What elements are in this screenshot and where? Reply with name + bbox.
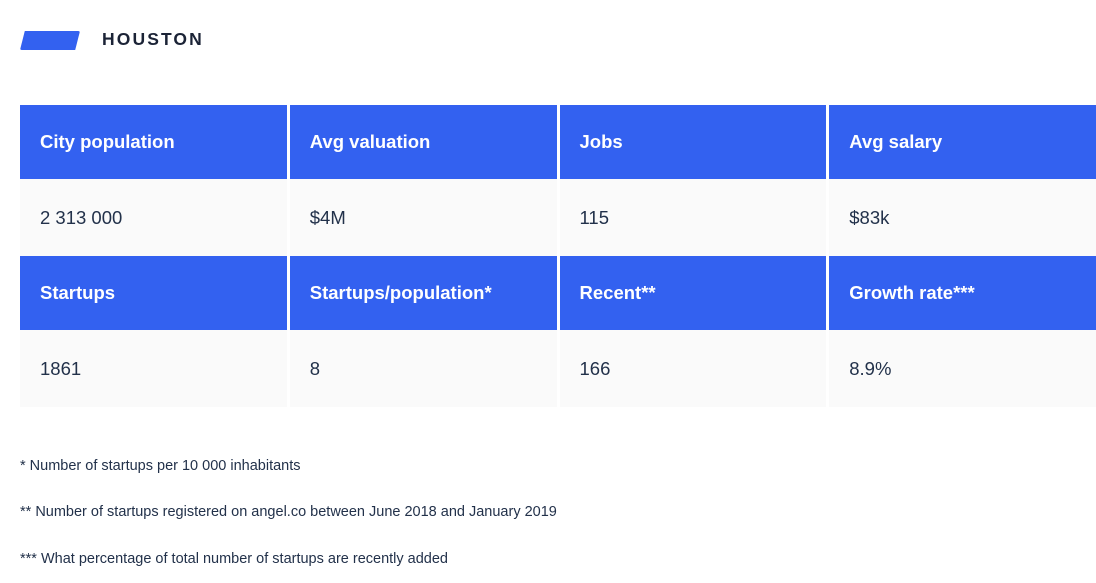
column-header-city-population: City population	[20, 105, 287, 179]
brand-name: HOUSTON	[102, 31, 204, 49]
value-growth-rate: 8.9%	[829, 330, 1096, 407]
value-jobs: 115	[560, 179, 827, 256]
table-row: 1861 8 166 8.9%	[20, 330, 1096, 407]
column-header-avg-valuation: Avg valuation	[290, 105, 557, 179]
column-header-growth-rate: Growth rate***	[829, 256, 1096, 330]
value-avg-valuation: $4M	[290, 179, 557, 256]
column-header-avg-salary: Avg salary	[829, 105, 1096, 179]
footnote-single-asterisk: * Number of startups per 10 000 inhabita…	[20, 458, 1060, 475]
footnote-triple-asterisk: *** What percentage of total number of s…	[20, 551, 1060, 568]
value-startups-per-population: 8	[290, 330, 557, 407]
column-header-recent: Recent**	[560, 256, 827, 330]
table-row: 2 313 000 $4M 115 $83k	[20, 179, 1096, 256]
footnote-double-asterisk: ** Number of startups registered on ange…	[20, 504, 1060, 521]
parallelogram-logo-icon	[20, 31, 80, 50]
value-avg-salary: $83k	[829, 179, 1096, 256]
table-header-row: City population Avg valuation Jobs Avg s…	[20, 105, 1096, 179]
value-city-population: 2 313 000	[20, 179, 287, 256]
brand-header: HOUSTON	[20, 26, 204, 52]
value-recent: 166	[560, 330, 827, 407]
table-header-row: Startups Startups/population* Recent** G…	[20, 256, 1096, 330]
footnotes: * Number of startups per 10 000 inhabita…	[20, 458, 1060, 568]
column-header-startups: Startups	[20, 256, 287, 330]
value-startups: 1861	[20, 330, 287, 407]
column-header-startups-per-population: Startups/population*	[290, 256, 557, 330]
city-stats-table: City population Avg valuation Jobs Avg s…	[20, 105, 1096, 407]
column-header-jobs: Jobs	[560, 105, 827, 179]
